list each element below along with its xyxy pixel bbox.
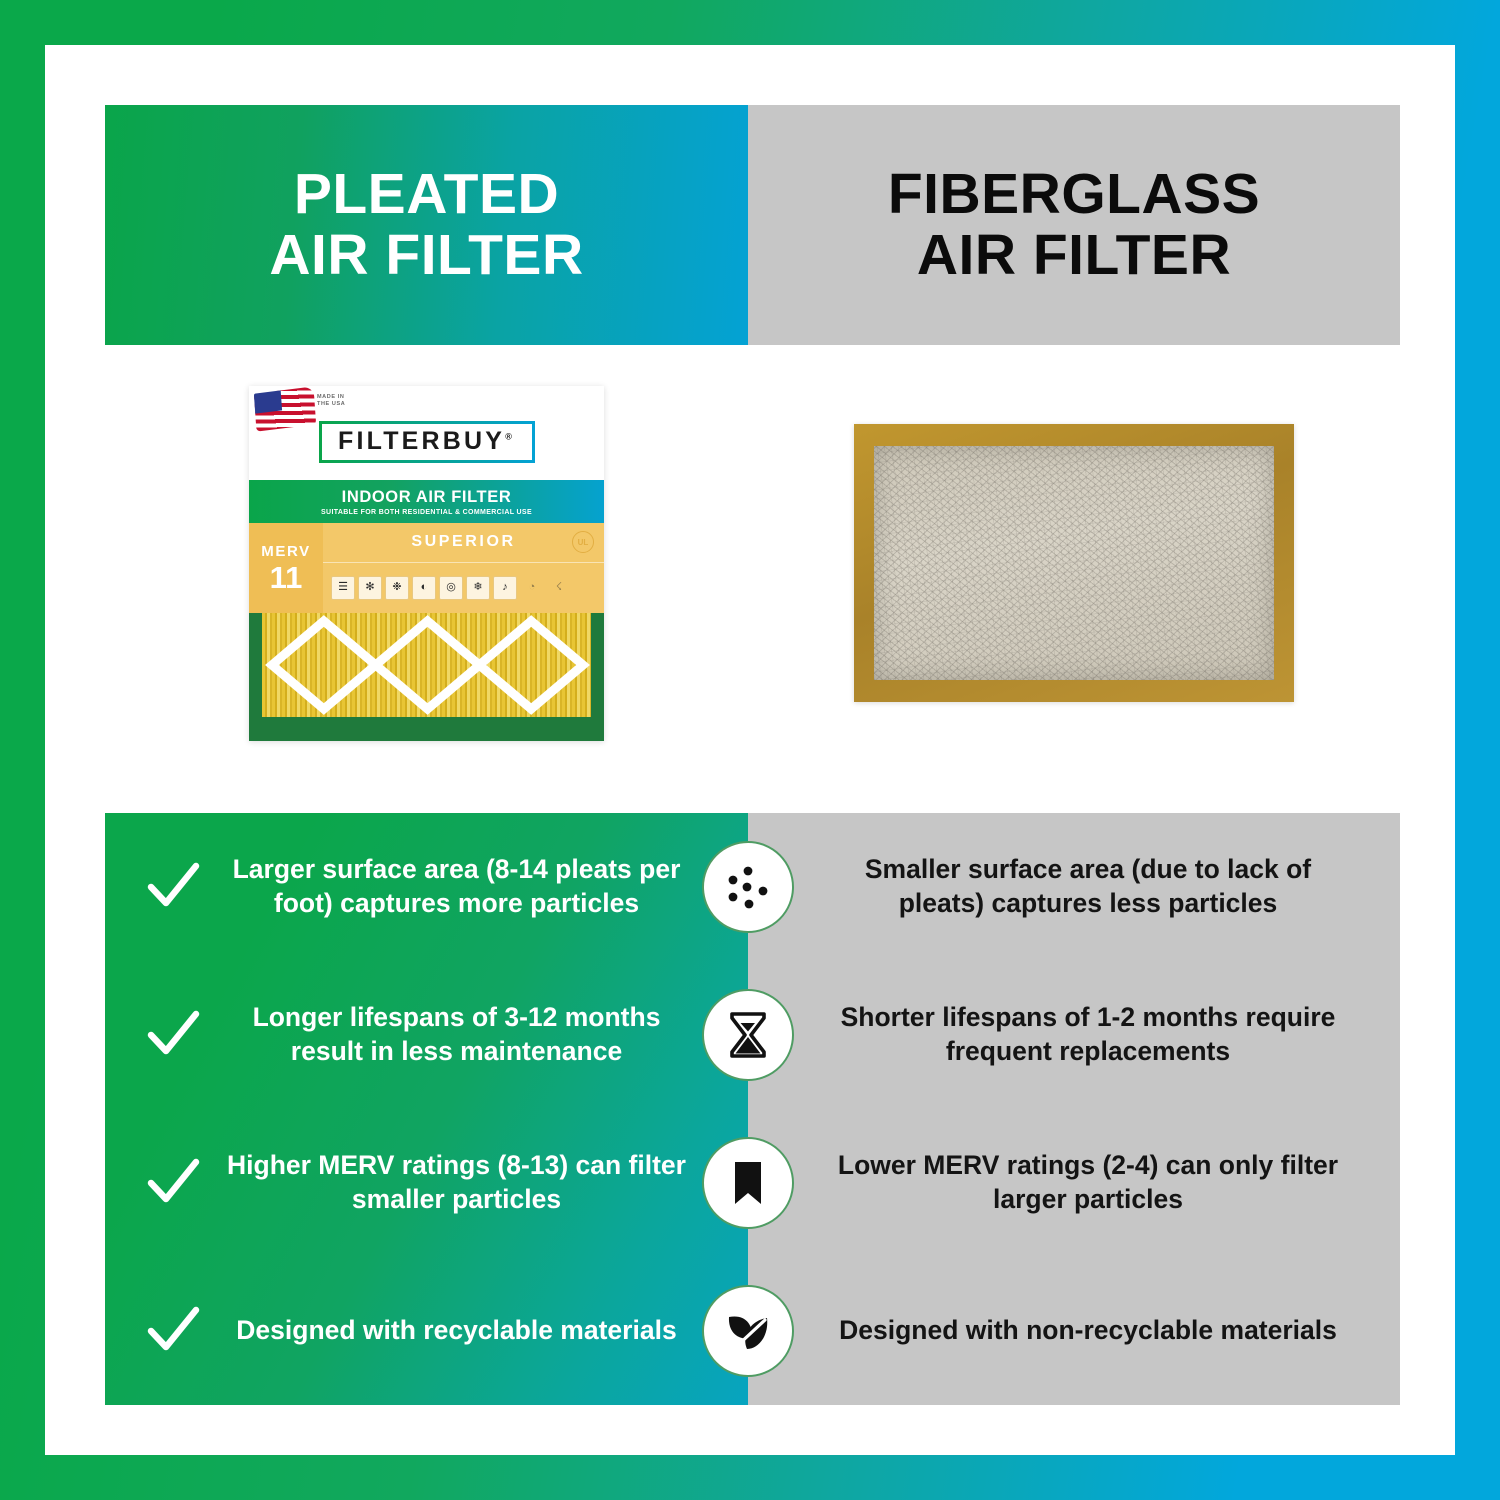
fiberglass-drawback-text: Smaller surface area (due to lack of ple…: [830, 853, 1346, 920]
leaves-icon: [702, 1285, 794, 1377]
package-gold-right: SUPERIOR UL ☰ ✻ ❉ ◐ ◎ ❄ ♪: [323, 523, 604, 613]
dust-icon: ☰: [331, 576, 355, 600]
odor-icon: ◔: [520, 576, 544, 600]
made-in-line2: THE USA: [317, 401, 345, 407]
made-in-line1: MADE IN: [317, 394, 344, 400]
comparison-rows: Larger surface area (8-14 pleats per foo…: [105, 813, 1400, 1405]
pollen-icon: ❉: [385, 576, 409, 600]
package-product-band: INDOOR AIR FILTER SUITABLE FOR BOTH RESI…: [249, 480, 604, 523]
fiberglass-drawback-text: Lower MERV ratings (2-4) can only filter…: [830, 1149, 1346, 1216]
fiberglass-drawback-text: Designed with non-recyclable materials: [839, 1314, 1337, 1348]
checkmark-icon: [143, 1153, 203, 1213]
checkmark-icon: [143, 1301, 203, 1361]
merv-value: 11: [270, 562, 303, 593]
pleated-media-section: [249, 613, 604, 741]
pleated-benefit-cell: Designed with recyclable materials: [105, 1301, 748, 1361]
table-row: Designed with recyclable materials Desig…: [105, 1257, 1400, 1405]
brand-logo-box: FILTERBUY®: [319, 421, 535, 463]
header-pleated: PLEATED AIR FILTER: [105, 105, 748, 345]
header-fiberglass: FIBERGLASS AIR FILTER: [748, 105, 1400, 345]
fiberglass-drawback-cell: Smaller surface area (due to lack of ple…: [748, 853, 1400, 920]
pleated-filter-image: MADE IN THE USA FILTERBUY® INDOOR AIR FI…: [249, 386, 604, 741]
pleated-benefit-cell: Larger surface area (8-14 pleats per foo…: [105, 853, 748, 920]
pleated-benefit-text: Longer lifespans of 3-12 months result i…: [217, 1001, 714, 1068]
made-in-usa-text: MADE IN THE USA: [317, 394, 345, 410]
virus-icon: ☇: [547, 576, 571, 600]
tier-label: SUPERIOR: [411, 533, 515, 551]
pleated-product-cell: MADE IN THE USA FILTERBUY® INDOOR AIR FI…: [105, 345, 748, 781]
infographic-canvas: PLEATED AIR FILTER FIBERGLASS AIR FILTER: [45, 45, 1455, 1455]
usa-flag-icon: [254, 386, 316, 431]
trademark-mark: ®: [505, 432, 515, 442]
feature-icon-strip: ☰ ✻ ❉ ◐ ◎ ❄ ♪ ◔ ☇: [323, 563, 604, 613]
fiberglass-drawback-text: Shorter lifespans of 1-2 months require …: [830, 1001, 1346, 1068]
merv-badge: MERV 11: [249, 523, 323, 613]
fiberglass-drawback-cell: Shorter lifespans of 1-2 months require …: [748, 1001, 1400, 1068]
package-top-section: MADE IN THE USA FILTERBUY®: [249, 386, 604, 480]
package-band-subtitle: SUITABLE FOR BOTH RESIDENTIAL & COMMERCI…: [321, 509, 532, 516]
bookmark-icon: [702, 1137, 794, 1229]
insect-icon: ✻: [358, 576, 382, 600]
fiberglass-drawback-cell: Designed with non-recyclable materials: [748, 1314, 1400, 1348]
table-row: Longer lifespans of 3-12 months result i…: [105, 961, 1400, 1109]
hourglass-icon: [702, 989, 794, 1081]
brand-name: FILTERBUY: [338, 427, 505, 455]
support-mesh-overlay: [262, 613, 591, 717]
mold-icon: ◎: [439, 576, 463, 600]
smoke-icon: ♪: [493, 576, 517, 600]
fiberglass-media: [874, 446, 1274, 680]
particles-icon: [702, 841, 794, 933]
header-fiberglass-title: FIBERGLASS AIR FILTER: [888, 164, 1260, 286]
outer-gradient-frame: PLEATED AIR FILTER FIBERGLASS AIR FILTER: [0, 0, 1500, 1500]
pleated-benefit-text: Larger surface area (8-14 pleats per foo…: [217, 853, 714, 920]
package-band-title: INDOOR AIR FILTER: [342, 488, 512, 507]
product-image-row: MADE IN THE USA FILTERBUY® INDOOR AIR FI…: [105, 345, 1400, 781]
header-pleated-line1: PLEATED: [294, 162, 559, 226]
checkmark-icon: [143, 1005, 203, 1065]
pleated-benefit-cell: Higher MERV ratings (8-13) can filter sm…: [105, 1149, 748, 1216]
merv-label: MERV: [261, 543, 310, 560]
package-gold-section: MERV 11 SUPERIOR UL ☰ ✻ ❉: [249, 523, 604, 613]
pet-dander-icon: ❄: [466, 576, 490, 600]
header-pleated-title: PLEATED AIR FILTER: [269, 164, 583, 286]
pleated-benefit-cell: Longer lifespans of 3-12 months result i…: [105, 1001, 748, 1068]
header-row: PLEATED AIR FILTER FIBERGLASS AIR FILTER: [105, 105, 1400, 345]
header-pleated-line2: AIR FILTER: [269, 223, 583, 287]
pleated-benefit-text: Higher MERV ratings (8-13) can filter sm…: [217, 1149, 714, 1216]
header-fiberglass-line2: AIR FILTER: [917, 223, 1231, 287]
table-row: Larger surface area (8-14 pleats per foo…: [105, 813, 1400, 961]
bacteria-icon: ◐: [412, 576, 436, 600]
fiberglass-filter-image: [854, 424, 1294, 702]
fiberglass-drawback-cell: Lower MERV ratings (2-4) can only filter…: [748, 1149, 1400, 1216]
brand-logo-text: FILTERBUY®: [338, 427, 515, 456]
header-fiberglass-line1: FIBERGLASS: [888, 162, 1260, 226]
ul-certification-icon: UL: [572, 531, 594, 553]
fiberglass-product-cell: [748, 345, 1400, 781]
checkmark-icon: [143, 857, 203, 917]
table-row: Higher MERV ratings (8-13) can filter sm…: [105, 1109, 1400, 1257]
pleated-benefit-text: Designed with recyclable materials: [217, 1314, 714, 1348]
tier-row: SUPERIOR UL: [323, 523, 604, 563]
comparison-table: Larger surface area (8-14 pleats per foo…: [105, 813, 1400, 1405]
